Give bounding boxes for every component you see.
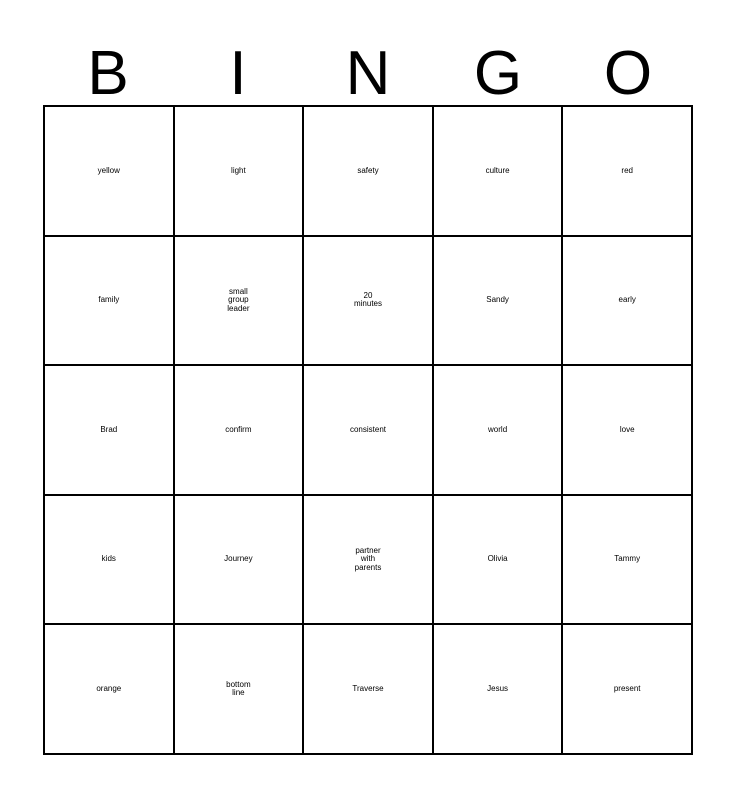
bingo-cell-o5[interactable]: present	[563, 625, 693, 755]
bingo-cell-label: Journey	[175, 555, 303, 563]
bingo-cell-b3[interactable]: Brad	[45, 366, 175, 496]
bingo-cell-n1[interactable]: safety	[304, 107, 434, 237]
bingo-cell-g2[interactable]: Sandy	[434, 237, 564, 367]
bingo-cell-i5[interactable]: bottom line	[175, 625, 305, 755]
bingo-cell-o2[interactable]: early	[563, 237, 693, 367]
bingo-cell-label: light	[175, 167, 303, 175]
bingo-cell-label: culture	[434, 167, 562, 175]
bingo-cell-b2[interactable]: family	[45, 237, 175, 367]
bingo-cell-g1[interactable]: culture	[434, 107, 564, 237]
header-letter-o: O	[563, 35, 693, 105]
bingo-cell-i2[interactable]: small group leader	[175, 237, 305, 367]
bingo-cell-n3[interactable]: consistent	[304, 366, 434, 496]
header-letter-i: I	[173, 35, 303, 105]
bingo-cell-label: kids	[45, 555, 173, 563]
bingo-cell-label: safety	[304, 167, 432, 175]
bingo-cell-label: Tammy	[563, 555, 691, 563]
bingo-cell-i1[interactable]: light	[175, 107, 305, 237]
bingo-cell-i3[interactable]: confirm	[175, 366, 305, 496]
bingo-cell-o3[interactable]: love	[563, 366, 693, 496]
bingo-cell-g5[interactable]: Jesus	[434, 625, 564, 755]
bingo-cell-b4[interactable]: kids	[45, 496, 175, 626]
bingo-cell-label: Sandy	[434, 296, 562, 304]
bingo-cell-b5[interactable]: orange	[45, 625, 175, 755]
bingo-cell-n5[interactable]: Traverse	[304, 625, 434, 755]
header-letter-g: G	[433, 35, 563, 105]
bingo-cell-label: family	[45, 296, 173, 304]
bingo-cell-label: red	[563, 167, 691, 175]
bingo-cell-n4[interactable]: partner with parents	[304, 496, 434, 626]
bingo-cell-label: small group leader	[175, 288, 303, 313]
bingo-cell-label: consistent	[304, 426, 432, 434]
bingo-header-row: B I N G O	[43, 35, 693, 105]
bingo-cell-g3[interactable]: world	[434, 366, 564, 496]
bingo-cell-o1[interactable]: red	[563, 107, 693, 237]
bingo-cell-o4[interactable]: Tammy	[563, 496, 693, 626]
bingo-cell-label: present	[563, 685, 691, 693]
bingo-cell-label: orange	[45, 685, 173, 693]
bingo-cell-label: yellow	[45, 167, 173, 175]
bingo-cell-label: bottom line	[175, 681, 303, 698]
bingo-cell-label: world	[434, 426, 562, 434]
bingo-cell-label: Jesus	[434, 685, 562, 693]
header-letter-n: N	[303, 35, 433, 105]
bingo-cell-label: 20 minutes	[304, 292, 432, 309]
header-letter-b: B	[43, 35, 173, 105]
bingo-cell-label: love	[563, 426, 691, 434]
bingo-cell-label: partner with parents	[304, 547, 432, 572]
bingo-cell-i4[interactable]: Journey	[175, 496, 305, 626]
bingo-cell-label: early	[563, 296, 691, 304]
bingo-cell-b1[interactable]: yellow	[45, 107, 175, 237]
bingo-cell-label: Traverse	[304, 685, 432, 693]
bingo-cell-label: Olivia	[434, 555, 562, 563]
bingo-cell-label: confirm	[175, 426, 303, 434]
bingo-grid: yellow light safety culture red family s…	[43, 105, 693, 755]
bingo-cell-n2[interactable]: 20 minutes	[304, 237, 434, 367]
bingo-card: B I N G O yellow light safety culture re…	[43, 35, 693, 755]
bingo-cell-g4[interactable]: Olivia	[434, 496, 564, 626]
bingo-cell-label: Brad	[45, 426, 173, 434]
